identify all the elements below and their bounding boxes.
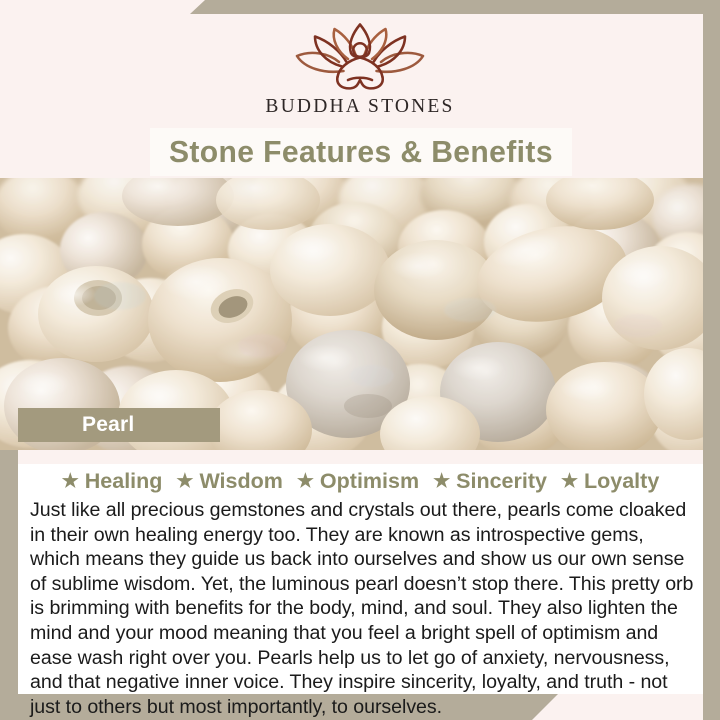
page-title: Stone Features & Benefits — [169, 134, 553, 170]
benefit-item: ★ Wisdom — [169, 469, 289, 494]
panel-top-tint — [18, 450, 703, 464]
star-icon: ★ — [561, 472, 578, 491]
brand-name: BUDDHA STONES — [265, 96, 454, 118]
benefit-item: ★ Loyalty — [554, 469, 666, 494]
stone-info-poster: BUDDHA STONES Stone Features & Benefits — [0, 0, 720, 720]
benefits-list: ★ Healing ★ Wisdom ★ Optimism ★ Sincerit… — [18, 464, 703, 498]
stone-description: Just like all precious gemstones and cry… — [30, 498, 694, 719]
benefit-label: Wisdom — [199, 469, 282, 494]
star-icon: ★ — [62, 472, 79, 491]
benefit-label: Optimism — [320, 469, 419, 494]
benefit-label: Sincerity — [456, 469, 547, 494]
frame-band-top — [190, 0, 720, 14]
frame-band-left — [0, 440, 18, 694]
star-icon: ★ — [176, 472, 193, 491]
benefit-item: ★ Optimism — [290, 469, 426, 494]
brand-logo: BUDDHA STONES — [0, 18, 720, 126]
title-banner: Stone Features & Benefits — [150, 128, 572, 176]
content-panel: ★ Healing ★ Wisdom ★ Optimism ★ Sincerit… — [18, 450, 703, 694]
benefit-item: ★ Healing — [55, 469, 170, 494]
lotus-meditation-icon — [285, 18, 435, 94]
star-icon: ★ — [433, 472, 450, 491]
stone-name: Pearl — [82, 413, 134, 437]
benefit-label: Healing — [85, 469, 163, 494]
benefit-item: ★ Sincerity — [426, 469, 554, 494]
star-icon: ★ — [297, 472, 314, 491]
stone-name-plate: Pearl — [18, 408, 220, 442]
benefit-label: Loyalty — [584, 469, 659, 494]
